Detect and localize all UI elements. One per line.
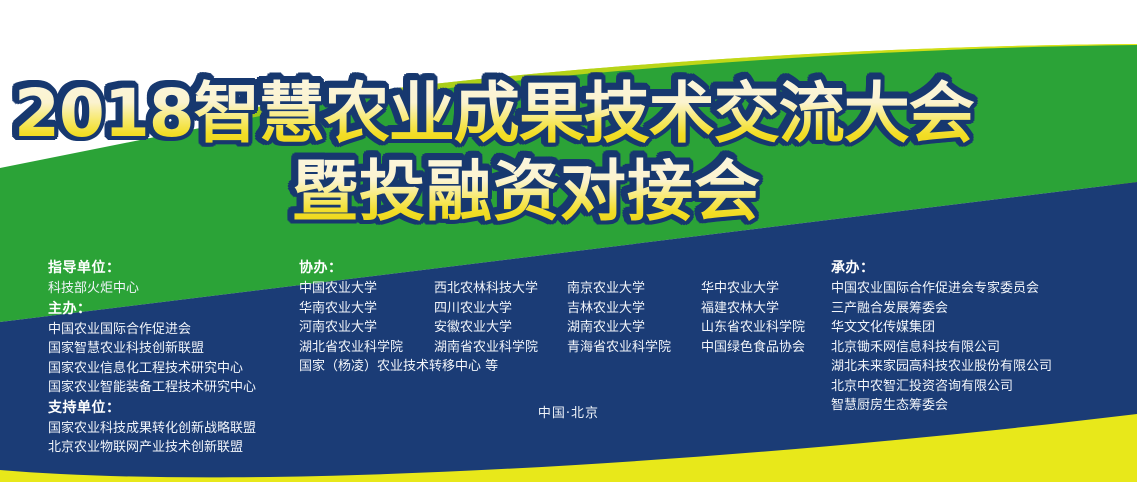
- credit-line: 国家（杨凌）农业技术转移中心 等: [299, 357, 831, 377]
- credit-line: 科技部火炬中心: [48, 279, 256, 299]
- credit-heading: 协办：: [299, 258, 831, 279]
- credit-line: 四川农业大学: [434, 299, 567, 319]
- credit-line: 湖南省农业科学院: [434, 338, 567, 358]
- credit-line: 西北农林科技大学: [434, 279, 567, 299]
- credit-line: 中国绿色食品协会: [701, 338, 831, 358]
- credit-line: 中国农业大学: [299, 279, 434, 299]
- credit-line: 南京农业大学: [567, 279, 701, 299]
- credit-block-guidance: 指导单位： 科技部火炬中心: [48, 258, 256, 299]
- co-organizer-grid: 中国农业大学 西北农林科技大学 南京农业大学 华中农业大学 华南农业大学 四川农…: [299, 279, 831, 377]
- credit-line: 华文文化传媒集团: [831, 318, 1052, 338]
- credit-line: 福建农林大学: [701, 299, 831, 319]
- credits-column-middle: 协办： 中国农业大学 西北农林科技大学 南京农业大学 华中农业大学 华南农业大学…: [299, 258, 831, 377]
- conference-poster: 2018智慧农业成果技术交流大会 暨投融资对接会 指导单位： 科技部火炬中心 主…: [0, 0, 1137, 482]
- credit-line: 国家智慧农业科技创新联盟: [48, 339, 256, 359]
- credit-line: 北京中农智汇投资咨询有限公司: [831, 377, 1052, 397]
- credit-line: 北京农业物联网产业技术创新联盟: [48, 438, 256, 458]
- credit-heading: 指导单位：: [48, 258, 256, 279]
- credit-block-organizers: 主办： 中国农业国际合作促进会 国家智慧农业科技创新联盟 国家农业信息化工程技术…: [48, 299, 256, 398]
- credit-line: 湖南农业大学: [567, 318, 701, 338]
- credit-line: 三产融合发展筹委会: [831, 299, 1052, 319]
- credit-line: 山东省农业科学院: [701, 318, 831, 338]
- credit-line: 华南农业大学: [299, 299, 434, 319]
- credit-line: 中国农业国际合作促进会专家委员会: [831, 279, 1052, 299]
- credit-line: 河南农业大学: [299, 318, 434, 338]
- credit-line: 国家农业信息化工程技术研究中心: [48, 359, 256, 379]
- credit-line: 中国农业国际合作促进会: [48, 320, 256, 340]
- credit-line: 青海省农业科学院: [567, 338, 701, 358]
- credit-heading: 主办：: [48, 299, 256, 320]
- credit-line: 安徽农业大学: [434, 318, 567, 338]
- credits-column-left: 指导单位： 科技部火炬中心 主办： 中国农业国际合作促进会 国家智慧农业科技创新…: [48, 258, 256, 458]
- credit-line: 湖北未来家园高科技农业股份有限公司: [831, 357, 1052, 377]
- credit-line: 华中农业大学: [701, 279, 831, 299]
- credit-heading: 承办：: [831, 258, 1052, 279]
- credit-line: 国家农业智能装备工程技术研究中心: [48, 378, 256, 398]
- credits-column-right: 承办： 中国农业国际合作促进会专家委员会 三产融合发展筹委会 华文文化传媒集团 …: [831, 258, 1052, 416]
- credit-line: 吉林农业大学: [567, 299, 701, 319]
- credit-line: 湖北省农业科学院: [299, 338, 434, 358]
- event-location: 中国·北京: [0, 404, 1137, 423]
- credit-line: 北京锄禾网信息科技有限公司: [831, 338, 1052, 358]
